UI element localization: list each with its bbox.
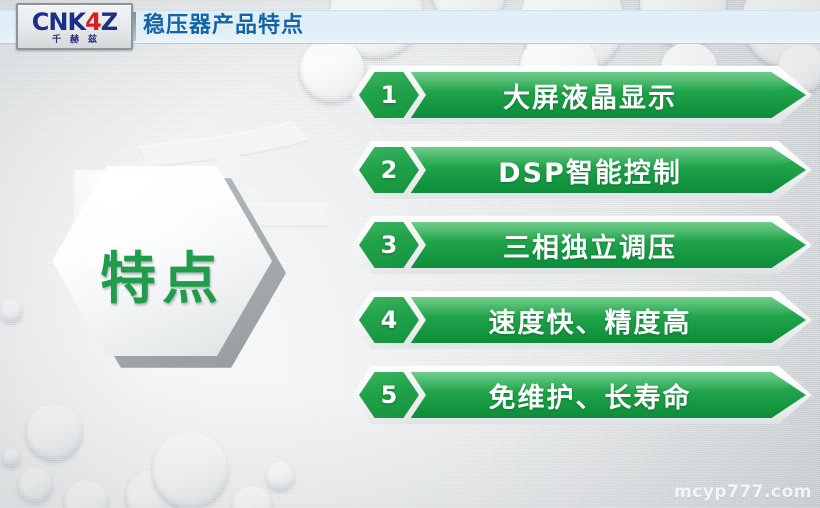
feature-label: DSP智能控制 <box>400 147 780 193</box>
badge-number: 2 <box>359 147 419 193</box>
feature-number-badge[interactable]: 4 <box>352 291 426 349</box>
feature-banner[interactable]: 免维护、长寿命 <box>394 366 812 424</box>
site-watermark: mcyp777.com <box>674 482 812 502</box>
badge-number: 1 <box>359 72 419 118</box>
feature-number-badge[interactable]: 2 <box>352 141 426 199</box>
feature-row[interactable]: 三相独立调压3 <box>352 216 812 274</box>
feature-label: 速度快、精度高 <box>400 297 780 343</box>
feature-banner[interactable]: 速度快、精度高 <box>394 291 812 349</box>
feature-label: 大屏液晶显示 <box>400 72 780 118</box>
feature-row[interactable]: 速度快、精度高4 <box>352 291 812 349</box>
feature-row[interactable]: 免维护、长寿命5 <box>352 366 812 424</box>
feature-label: 免维护、长寿命 <box>400 372 780 418</box>
badge-number: 4 <box>359 297 419 343</box>
badge-number: 5 <box>359 372 419 418</box>
badge-number: 3 <box>359 222 419 268</box>
feature-number-badge[interactable]: 5 <box>352 366 426 424</box>
feature-banner[interactable]: 三相独立调压 <box>394 216 812 274</box>
feature-banner[interactable]: 大屏液晶显示 <box>394 66 812 124</box>
feature-row[interactable]: DSP智能控制2 <box>352 141 812 199</box>
slide-canvas: 千 CNK4Z 千赫兹 稳压器产品特点 特点 大屏液晶显示1DSP智能控制2三相… <box>0 0 820 508</box>
feature-number-badge[interactable]: 3 <box>352 216 426 274</box>
feature-label: 三相独立调压 <box>400 222 780 268</box>
feature-banner[interactable]: DSP智能控制 <box>394 141 812 199</box>
feature-list: 大屏液晶显示1DSP智能控制2三相独立调压3速度快、精度高4免维护、长寿命5 <box>0 0 820 508</box>
feature-row[interactable]: 大屏液晶显示1 <box>352 66 812 124</box>
feature-number-badge[interactable]: 1 <box>352 66 426 124</box>
